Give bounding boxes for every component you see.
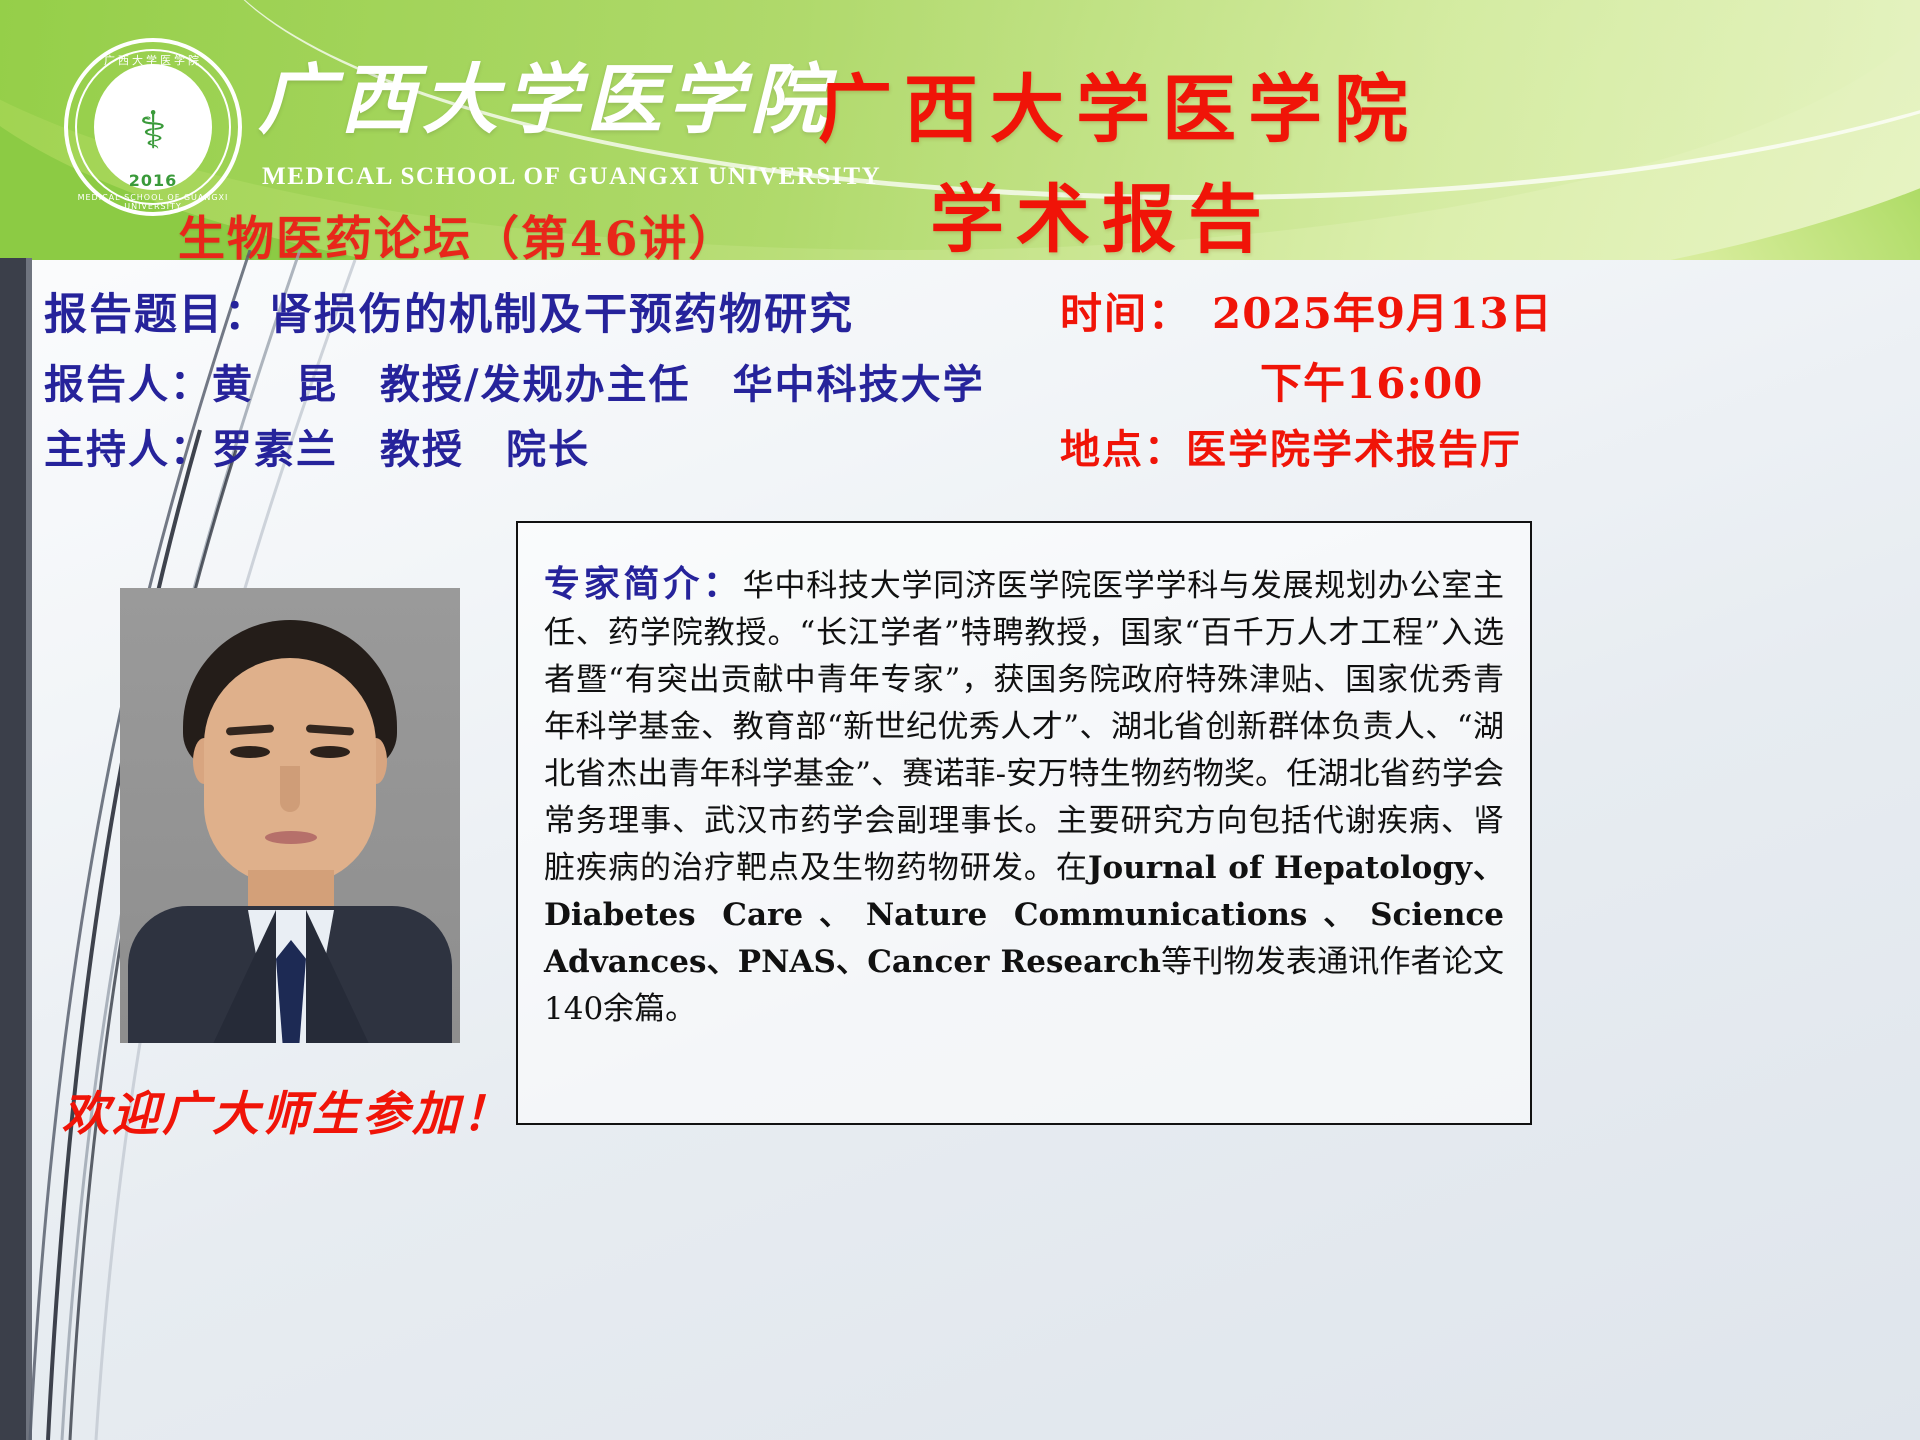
portrait-eye-right	[310, 746, 350, 758]
welcome-message: 欢迎广大师生参加！	[62, 1075, 512, 1144]
caduceus-icon: ⚕	[139, 105, 167, 157]
time-label: 时间：	[1060, 280, 1192, 341]
speaker-label: 报告人：	[44, 361, 212, 408]
seminar-poster: 广西大学医学院 ⚕ 2016 MEDICAL SCHOOL OF GUANGXI…	[0, 0, 1920, 1440]
portrait-nose	[280, 766, 300, 812]
forum-series-line: 生物医药论坛（第46讲）	[178, 200, 737, 260]
speaker-portrait-photo	[120, 588, 460, 1043]
place-label: 地点：	[1060, 426, 1186, 473]
biography-lead-label: 专家简介：	[544, 563, 743, 605]
speaker-value: 黄 昆 教授/发规办主任 华中科技大学	[212, 361, 985, 408]
logo-year-text: 2016	[64, 171, 242, 190]
header-banner: 广西大学医学院 ⚕ 2016 MEDICAL SCHOOL OF GUANGXI…	[0, 0, 1920, 260]
date-value: 2025年9月13日	[1212, 280, 1553, 341]
topic-value: 肾损伤的机制及干预药物研究	[269, 290, 854, 340]
place-row: 地点：医学院学术报告厅	[1060, 417, 1522, 475]
event-info-block: 报告题目：肾损伤的机制及干预药物研究 报告人：黄 昆 教授/发规办主任 华中科技…	[32, 262, 1920, 492]
host-row: 主持人：罗素兰 教授 院长	[44, 417, 590, 475]
school-name-cn: 广西大学医学院	[258, 62, 832, 138]
time-value: 下午16:00	[1260, 350, 1483, 411]
speaker-row: 报告人：黄 昆 教授/发规办主任 华中科技大学	[44, 352, 985, 410]
school-name-en: MEDICAL SCHOOL OF GUANGXI UNIVERSITY	[262, 163, 881, 191]
biography-text: 华中科技大学同济医学院医学学科与发展规划办公室主任、药学院教授。“长江学者”特聘…	[544, 568, 1504, 886]
left-accent-bar	[0, 258, 26, 1440]
host-label: 主持人：	[44, 426, 212, 473]
speaker-biography-box: 专家简介：华中科技大学同济医学院医学学科与发展规划办公室主任、药学院教授。“长江…	[516, 521, 1532, 1125]
place-value: 医学院学术报告厅	[1186, 426, 1522, 473]
biography-paragraph: 专家简介：华中科技大学同济医学院医学学科与发展规划办公室主任、药学院教授。“长江…	[544, 561, 1504, 1033]
topic-row: 报告题目：肾损伤的机制及干预药物研究	[44, 280, 854, 342]
portrait-mouth	[265, 831, 317, 844]
poster-title-line2: 学术报告	[930, 160, 1274, 260]
school-crest-logo: 广西大学医学院 ⚕ 2016 MEDICAL SCHOOL OF GUANGXI…	[64, 38, 242, 216]
host-value: 罗素兰 教授 院长	[212, 426, 590, 473]
poster-title-line1: 广西大学医学院	[818, 50, 1420, 157]
portrait-eye-left	[230, 746, 270, 758]
topic-label: 报告题目：	[44, 290, 269, 340]
